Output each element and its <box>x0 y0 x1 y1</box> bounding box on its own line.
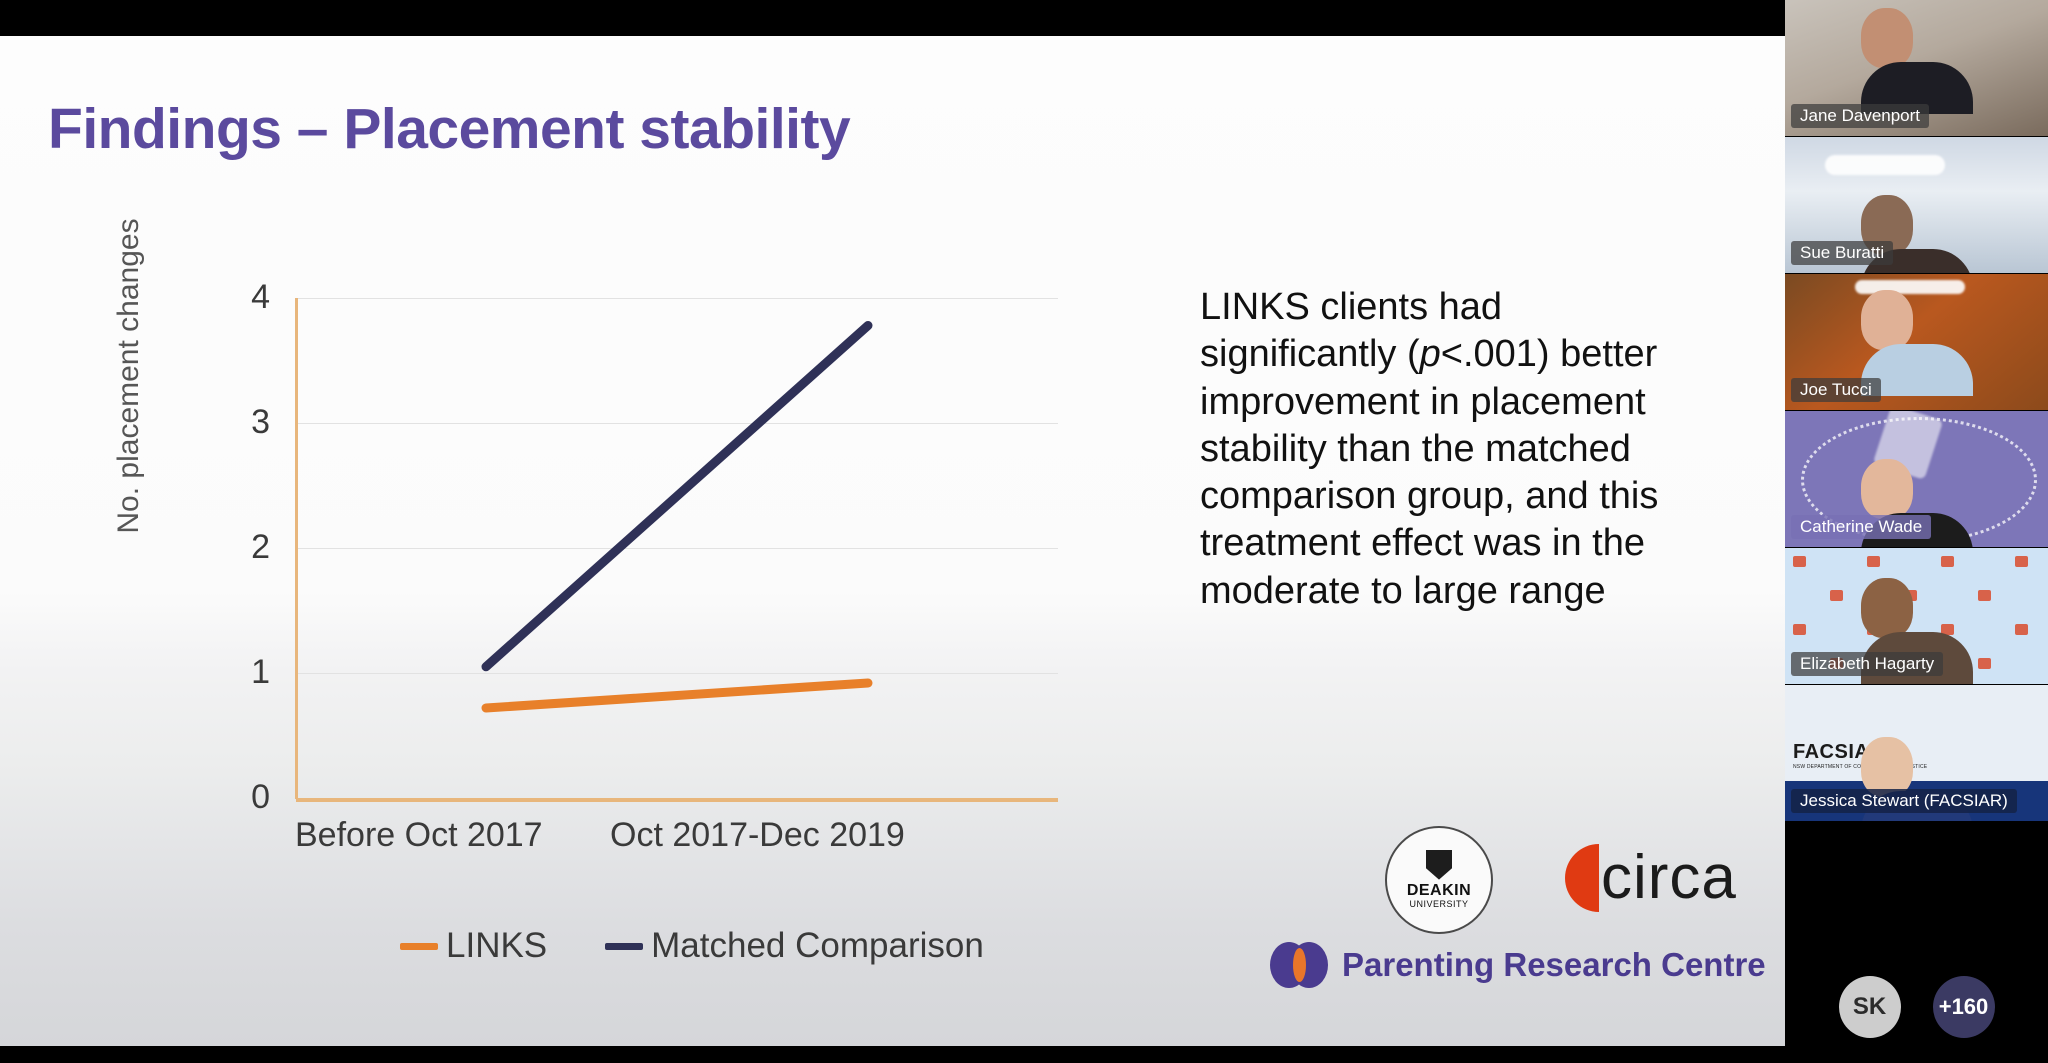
video-tile-sue-buratti[interactable]: Sue Buratti <box>1785 137 2048 273</box>
circa-logo: circa <box>1565 844 1737 912</box>
chart-series-lines <box>296 298 1058 798</box>
legend-swatch-links <box>400 943 438 950</box>
participant-video-rail: Jane Davenport Sue Buratti Joe Tucci <box>1785 0 2048 1063</box>
deakin-logo-line2: UNIVERSITY <box>1409 899 1468 911</box>
deakin-logo-line1: DEAKIN <box>1407 883 1471 899</box>
y-tick-2: 2 <box>210 528 270 567</box>
findings-summary-text: LINKS clients had significantly (p<.001)… <box>1200 284 1670 615</box>
avatar-overflow-row: SK +160 <box>1785 950 2048 1063</box>
chart-y-axis-title: No. placement changes <box>112 216 146 536</box>
nameplate-jane-davenport: Jane Davenport <box>1791 104 1929 128</box>
circa-half-circle-icon <box>1565 844 1599 912</box>
video-tile-catherine-wade[interactable]: Catherine Wade <box>1785 411 2048 547</box>
logo-row: DEAKIN UNIVERSITY circa Parenting Resear… <box>1270 806 1740 996</box>
series-line-matched-comparison <box>486 326 868 667</box>
nameplate-catherine-wade: Catherine Wade <box>1791 515 1931 539</box>
prc-mark-icon <box>1270 942 1328 988</box>
nameplate-joe-tucci: Joe Tucci <box>1791 378 1881 402</box>
legend-item-links: LINKS <box>400 926 547 966</box>
page-title: Findings – Placement stability <box>48 96 850 162</box>
findings-text-p-symbol: p <box>1420 333 1441 375</box>
video-tile-joe-tucci[interactable]: Joe Tucci <box>1785 274 2048 410</box>
placement-stability-line-chart: No. placement changes 4 3 2 1 0 <box>120 236 1170 916</box>
avatar-sk[interactable]: SK <box>1839 976 1901 1038</box>
video-tile-elizabeth-hagarty[interactable]: Elizabeth Hagarty <box>1785 548 2048 684</box>
legend-label-matched-comparison: Matched Comparison <box>651 926 984 966</box>
prc-logo-text: Parenting Research Centre <box>1342 946 1766 984</box>
x-tick-before-oct-2017: Before Oct 2017 <box>295 816 543 855</box>
avatar-overflow-count[interactable]: +160 <box>1933 976 1995 1038</box>
nameplate-jessica-stewart: Jessica Stewart (FACSIAR) <box>1791 789 2017 813</box>
legend-label-links: LINKS <box>446 926 547 966</box>
video-tile-jane-davenport[interactable]: Jane Davenport <box>1785 0 2048 136</box>
y-tick-0: 0 <box>210 778 270 817</box>
parenting-research-centre-logo: Parenting Research Centre <box>1270 942 1766 988</box>
chart-legend: LINKS Matched Comparison <box>400 926 984 966</box>
y-tick-1: 1 <box>210 653 270 692</box>
shield-icon <box>1426 850 1452 880</box>
shared-screen-stage: Findings – Placement stability No. place… <box>0 0 1785 1063</box>
nameplate-sue-buratti: Sue Buratti <box>1791 241 1893 265</box>
deakin-university-logo: DEAKIN UNIVERSITY <box>1385 826 1493 934</box>
x-tick-oct-2017-dec-2019: Oct 2017-Dec 2019 <box>610 816 905 855</box>
chart-x-axis-line <box>296 798 1058 802</box>
top-letterbox-bar <box>0 0 1785 36</box>
series-line-links <box>486 683 868 708</box>
zoom-meeting-screen-share: Findings – Placement stability No. place… <box>0 0 2048 1063</box>
y-tick-3: 3 <box>210 403 270 442</box>
bottom-letterbox-bar <box>0 1046 1785 1063</box>
legend-swatch-matched-comparison <box>605 943 643 950</box>
circa-logo-text: circa <box>1601 853 1737 903</box>
video-tile-jessica-stewart[interactable]: FACSIARNSW DEPARTMENT OF COMMUNITIES AND… <box>1785 685 2048 821</box>
legend-item-matched-comparison: Matched Comparison <box>605 926 984 966</box>
y-tick-4: 4 <box>210 278 270 317</box>
presentation-slide: Findings – Placement stability No. place… <box>0 36 1785 1046</box>
nameplate-elizabeth-hagarty: Elizabeth Hagarty <box>1791 652 1943 676</box>
